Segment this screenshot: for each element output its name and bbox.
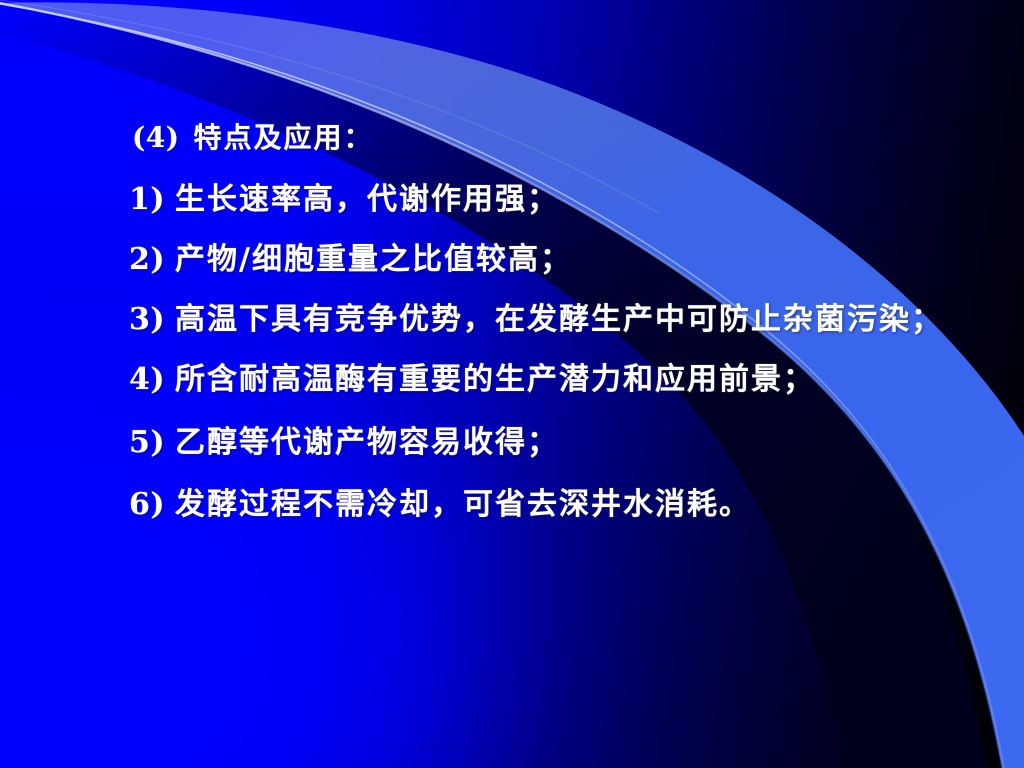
heading-text: 特点及应用： — [193, 124, 373, 152]
list-item-marker: 1) — [129, 185, 175, 215]
list-item: 6)发酵过程不需冷却，可省去深井水消耗。 — [129, 490, 751, 520]
list-item-marker: 3) — [129, 305, 175, 335]
list-item-text: 所含耐高温酶有重要的生产潜力和应用前景； — [175, 365, 815, 395]
list-item-marker: 2) — [129, 245, 175, 275]
list-item-marker: 6) — [129, 490, 175, 520]
list-item-marker: 5) — [129, 428, 175, 458]
list-item-text: 乙醇等代谢产物容易收得； — [175, 428, 559, 458]
slide-canvas: (4)特点及应用： 1)生长速率高，代谢作用强； 2)产物/细胞重量之比值较高；… — [0, 0, 1024, 768]
heading-marker: (4) — [132, 124, 179, 152]
list-item: 1)生长速率高，代谢作用强； — [129, 185, 559, 215]
list-item: 4)所含耐高温酶有重要的生产潜力和应用前景； — [129, 365, 815, 395]
list-item: 3)高温下具有竞争优势，在发酵生产中可防止杂菌污染； — [129, 305, 943, 335]
list-item: 5)乙醇等代谢产物容易收得； — [129, 428, 559, 458]
list-item-text: 产物/细胞重量之比值较高； — [175, 245, 572, 275]
list-item-text: 高温下具有竞争优势，在发酵生产中可防止杂菌污染； — [175, 305, 943, 335]
heading-line: (4)特点及应用： — [132, 124, 374, 152]
list-item-marker: 4) — [129, 365, 175, 395]
slide-text-content: (4)特点及应用： 1)生长速率高，代谢作用强； 2)产物/细胞重量之比值较高；… — [0, 0, 1024, 768]
list-item: 2)产物/细胞重量之比值较高； — [129, 245, 572, 275]
list-item-text: 生长速率高，代谢作用强； — [175, 185, 559, 215]
list-item-text: 发酵过程不需冷却，可省去深井水消耗。 — [175, 490, 751, 520]
